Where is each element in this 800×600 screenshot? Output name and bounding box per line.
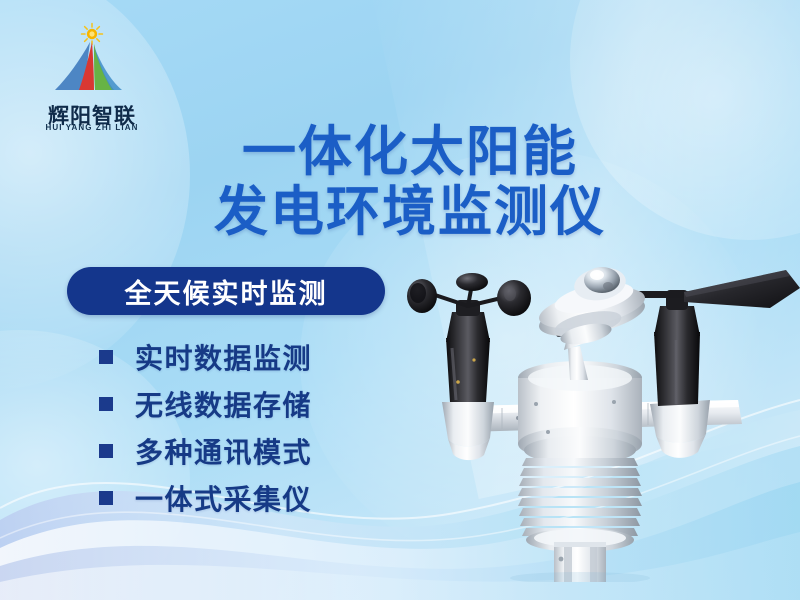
list-item: 实时数据监测 bbox=[99, 333, 429, 380]
bullet-square-icon bbox=[99, 491, 113, 505]
list-item: 多种通讯模式 bbox=[99, 427, 429, 474]
feature-label: 无线数据存储 bbox=[135, 384, 312, 424]
radiation-shield-louvers bbox=[518, 436, 642, 552]
status-badge: 全天候实时监测 bbox=[67, 267, 385, 315]
page-title-line-2: 发电环境监测仪 bbox=[150, 182, 670, 242]
feature-label: 多种通讯模式 bbox=[135, 431, 312, 471]
logo-name-en: HUI YANG ZHI LIAN bbox=[22, 123, 162, 132]
feature-label: 实时数据监测 bbox=[135, 337, 312, 377]
sun-sails-logo-icon bbox=[22, 22, 162, 102]
bullet-square-icon bbox=[99, 444, 113, 458]
bullet-square-icon bbox=[99, 350, 113, 364]
anemometer-cups bbox=[407, 273, 531, 460]
list-item: 一体式采集仪 bbox=[99, 474, 429, 521]
sun-icon bbox=[82, 24, 103, 45]
bullet-square-icon bbox=[99, 397, 113, 411]
product-image-weather-station bbox=[398, 262, 800, 582]
product-banner: 辉阳智联 HUI YANG ZHI LIAN 一体化太阳能 发电环境监测仪 全天… bbox=[0, 0, 800, 600]
list-item: 无线数据存储 bbox=[99, 380, 429, 427]
brand-logo: 辉阳智联 HUI YANG ZHI LIAN bbox=[22, 22, 162, 132]
feature-label: 一体式采集仪 bbox=[135, 478, 312, 518]
feature-list: 实时数据监测 无线数据存储 多种通讯模式 一体式采集仪 bbox=[99, 333, 429, 521]
page-title-line-1: 一体化太阳能 bbox=[242, 120, 578, 183]
page-title: 一体化太阳能 发电环境监测仪 bbox=[150, 122, 670, 242]
status-badge-label: 全天候实时监测 bbox=[125, 272, 328, 311]
